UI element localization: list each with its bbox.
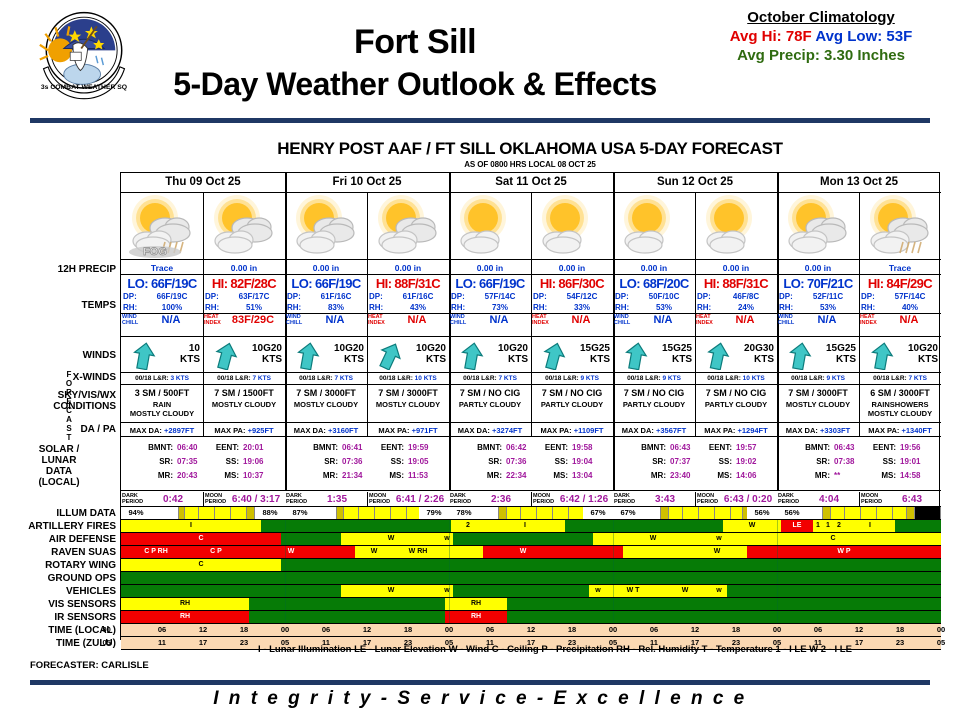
dewpoint-row: DP:46F/8C — [695, 291, 777, 302]
op-segment[interactable]: I — [121, 520, 261, 532]
op-segment[interactable] — [623, 546, 687, 558]
illum-period-label: MOONPERIOD — [533, 493, 555, 505]
xwind-cell: 00/18 L&R: 9 KTS — [777, 373, 859, 384]
illum-period-value: 2:36 — [473, 492, 529, 507]
op-segment[interactable]: W — [659, 585, 711, 597]
feels-like-row: HEATINDEXN/A — [859, 313, 941, 326]
xwind-value: 9 KTS — [826, 375, 844, 382]
op-segment[interactable] — [563, 546, 623, 558]
day-tick — [285, 546, 286, 558]
solar-pair-sr-ss: SR:07:35SS:19:06 — [121, 455, 285, 469]
day-tick — [777, 585, 778, 597]
time-tick: 12 — [183, 624, 224, 636]
dapa-cell: MAX DA: +3160FT — [285, 424, 367, 437]
feels-like-row: WINDCHILLN/A — [285, 313, 367, 326]
solar-key: BMNT: — [304, 441, 338, 455]
illum-segment — [915, 507, 941, 519]
xwind-cell: 00/18 L&R: 3 KTS — [121, 373, 203, 384]
temps-cell: LO: 66F/19CDP:66F/19CRH:100%WINDCHILLN/A — [121, 276, 203, 336]
row-label-solar-3: DATA — [0, 466, 118, 477]
dapa-value: +2897FT — [164, 426, 194, 435]
op-segment[interactable] — [249, 598, 445, 610]
time-tick: 18 — [224, 624, 265, 636]
solar-value: 20:01 — [243, 441, 263, 455]
feels-like-value: N/A — [551, 314, 611, 326]
solar-key: MR: — [632, 469, 666, 483]
solar-value: 19:06 — [243, 455, 263, 469]
illum-period-cell: MOONPERIOD6:40 / 3:17 — [203, 492, 285, 507]
precip-value: Trace — [121, 261, 203, 275]
time-tick: 18 — [716, 624, 757, 636]
dapa-cell: MAX DA: +2897FT — [121, 424, 203, 437]
op-segment[interactable] — [281, 533, 341, 545]
op-segment[interactable]: W — [593, 533, 713, 545]
day-tick — [449, 598, 450, 610]
dapa-cell: MAX PA: +1109FT — [531, 424, 613, 437]
feels-like-value: 83F/29C — [223, 314, 283, 326]
solar-pair-bmnt-eent: BMNT:06:43EENT:19:57 — [614, 441, 777, 455]
humidity-row: RH:73% — [449, 302, 531, 313]
op-segment[interactable]: 2 — [833, 520, 845, 532]
op-segment[interactable] — [507, 611, 941, 623]
visibility-ceiling: 7 SM / 3000FT — [285, 386, 367, 400]
illum-period-value: 1:35 — [309, 492, 365, 507]
illum-period-label: DARKPERIOD — [286, 493, 308, 505]
op-segment[interactable]: C P — [191, 546, 241, 558]
solar-value: 19:59 — [408, 441, 428, 455]
weather-icon-cell — [613, 194, 695, 258]
dapa-value: +3160FT — [328, 426, 358, 435]
row-label-rotary: ROTARY WING — [45, 560, 116, 571]
dapa-value: +971FT — [412, 426, 438, 435]
wind-cell: 15G25KTS — [531, 338, 613, 373]
illum-percent: 78% — [449, 507, 479, 519]
hi-lo-temp: LO: 66F/19C — [449, 276, 531, 291]
time-tick: 00 — [757, 624, 798, 636]
feels-like-row: WINDCHILLN/A — [449, 313, 531, 326]
dapa-cell: MAX DA: +3274FT — [449, 424, 531, 437]
feels-like-value: N/A — [141, 314, 201, 326]
dewpoint-row: DP:66F/19C — [121, 291, 203, 302]
hi-lo-temp: LO: 66F/19C — [285, 276, 367, 291]
rain-fog-cloud-sun-icon: FOG — [121, 194, 203, 258]
illum-segment — [231, 507, 247, 519]
feels-like-value: N/A — [715, 314, 775, 326]
feels-like-value: N/A — [387, 314, 447, 326]
illum-segment — [391, 507, 407, 519]
solar-pair-bmnt-eent: BMNT:06:41EENT:19:59 — [286, 441, 449, 455]
xwind-value: 7 KTS — [908, 375, 926, 382]
wind-cell: 10G20KTS — [285, 338, 367, 373]
row-label-sky-2: CONDITIONS — [53, 401, 116, 412]
illum-segment — [807, 507, 823, 519]
xwind-cell: 00/18 L&R: 10 KTS — [695, 373, 777, 384]
humidity-row: RH:83% — [285, 302, 367, 313]
solar-value: 13:04 — [572, 469, 592, 483]
day-tick — [777, 520, 778, 532]
day-tick — [613, 520, 614, 532]
feels-like-row: WINDCHILLN/A — [613, 313, 695, 326]
humidity-row: RH:33% — [531, 302, 613, 313]
solar-key: SR: — [796, 455, 830, 469]
op-segment[interactable]: W — [723, 520, 781, 532]
time-tick: 12 — [511, 624, 552, 636]
illum-segment — [375, 507, 391, 519]
wind-speed: 15G25KTS — [644, 343, 692, 365]
op-segment[interactable]: W — [355, 546, 393, 558]
op-segment[interactable]: C — [121, 533, 281, 545]
solar-key: BMNT: — [468, 441, 502, 455]
sky-cell: 7 SM / NO CIGPARTLY CLOUDY — [449, 386, 531, 423]
feels-like-label: WINDCHILL — [286, 314, 306, 326]
row-label-precip: 12H PRECIP — [58, 264, 116, 275]
illum-percent: 88% — [255, 507, 285, 519]
humidity-row: RH:53% — [777, 302, 859, 313]
hi-lo-temp: LO: 66F/19C — [121, 276, 203, 291]
wx-condition: RAIN — [121, 400, 203, 409]
wx-condition: RAINSHOWERS — [859, 400, 941, 409]
illum-segment — [643, 507, 661, 519]
humidity-row: RH:24% — [695, 302, 777, 313]
day-tick — [449, 585, 450, 597]
solar-key: SS: — [700, 455, 732, 469]
op-segment[interactable]: w — [441, 533, 453, 545]
title-primary: Fort Sill — [130, 22, 700, 62]
sky-cell: 7 SM / 3000FTMOSTLY CLOUDY — [367, 386, 449, 423]
wind-speed: 20G30KTS — [726, 343, 774, 365]
day-tick — [777, 611, 778, 623]
solar-lunar-cell: BMNT:06:41EENT:19:59SR:07:36SS:19:05MR:2… — [285, 438, 449, 490]
op-segment[interactable] — [249, 611, 445, 623]
xwind-cell: 00/18 L&R: 9 KTS — [613, 373, 695, 384]
day-tick — [613, 533, 614, 545]
op-segment[interactable] — [121, 572, 941, 584]
wind-cell: 10G20KTS — [859, 338, 941, 373]
climatology-heading: October Climatology — [690, 8, 952, 27]
op-segment[interactable]: RH — [121, 598, 249, 610]
solar-value: 19:56 — [900, 441, 920, 455]
precip-value: 0.00 in — [449, 261, 531, 275]
time-tick: 12 — [675, 624, 716, 636]
row-label-temps: TEMPS — [82, 300, 116, 311]
op-segment[interactable]: 1 — [813, 520, 823, 532]
solar-pair-sr-ss: SR:07:36SS:19:05 — [286, 455, 449, 469]
feels-like-label: HEATINDEX — [368, 314, 388, 326]
weather-icon-cell — [367, 194, 449, 258]
illum-period-label: MOONPERIOD — [697, 493, 719, 505]
solar-key: MS: — [864, 469, 896, 483]
op-segment[interactable] — [261, 520, 451, 532]
temps-cell: LO: 66F/19CDP:57F/14CRH:73%WINDCHILLN/A — [449, 276, 531, 336]
time-tick: 00 — [593, 624, 634, 636]
xwind-value: 9 KTS — [580, 375, 598, 382]
solar-value: 20:43 — [177, 469, 197, 483]
op-segment[interactable]: C P RH — [121, 546, 191, 558]
op-segment[interactable]: RH — [445, 611, 507, 623]
weather-icon-cell: FOG — [121, 194, 203, 258]
sun-behind-cloud-icon — [613, 194, 695, 258]
row-label-vis-sensors: VIS SENSORS — [48, 599, 116, 610]
op-row-air_defense: CWwWwC — [121, 533, 941, 546]
solar-pair-mr-ms: MR:22:34MS:13:04 — [450, 469, 613, 483]
illum-segment — [669, 507, 683, 519]
row-label-artillery: ARTILLERY FIRES — [28, 521, 116, 532]
row-label-xwinds: X-WINDS — [73, 372, 116, 383]
humidity-row: RH:100% — [121, 302, 203, 313]
op-segment[interactable]: C — [725, 533, 941, 545]
op-segment[interactable]: RH — [445, 598, 507, 610]
op-segment[interactable]: W — [241, 546, 341, 558]
day-header-3: Sun 12 Oct 25 — [613, 173, 777, 192]
wind-speed: 10G20KTS — [398, 343, 446, 365]
illum-segment — [661, 507, 669, 519]
solar-value: 06:43 — [670, 441, 690, 455]
illum-percent: 94% — [121, 507, 151, 519]
solar-value: 19:04 — [572, 455, 592, 469]
time-tick: 06 — [470, 624, 511, 636]
op-segment[interactable] — [727, 585, 941, 597]
feels-like-label: HEATINDEX — [532, 314, 552, 326]
solar-value: 14:06 — [736, 469, 756, 483]
precip-value: 0.00 in — [285, 261, 367, 275]
day-tick — [777, 533, 778, 545]
dapa-cell: MAX DA: +3303FT — [777, 424, 859, 437]
op-segment[interactable] — [341, 546, 355, 558]
illum-segment — [359, 507, 375, 519]
solar-pair-sr-ss: SR:07:36SS:19:04 — [450, 455, 613, 469]
xwind-value: 3 KTS — [170, 375, 188, 382]
solar-key: SR: — [304, 455, 338, 469]
svg-text:FOG: FOG — [143, 246, 167, 258]
visibility-ceiling: 7 SM / NO CIG — [613, 386, 695, 400]
illum-period-value: 0:42 — [145, 492, 201, 507]
illum-period-label: DARKPERIOD — [450, 493, 472, 505]
climatology-block: October Climatology Avg Hi: 78F Avg Low:… — [690, 8, 952, 65]
feels-like-row: HEATINDEXN/A — [367, 313, 449, 326]
illum-period-cell: DARKPERIOD4:04 — [777, 492, 859, 507]
weather-icon-cell — [777, 194, 859, 258]
day-tick — [285, 520, 286, 532]
op-row-rotary: C — [121, 559, 941, 572]
day-tick — [449, 520, 450, 532]
day-tick — [777, 546, 778, 558]
row-label-solar-2: LUNAR — [0, 455, 118, 466]
illum-period-cell: DARKPERIOD2:36 — [449, 492, 531, 507]
hi-lo-temp: LO: 70F/21C — [777, 276, 859, 291]
illum-segment — [521, 507, 537, 519]
feels-like-label: WINDCHILL — [450, 314, 470, 326]
time-tick: 00 — [921, 624, 960, 636]
forecast-grid: Thu 09 Oct 25FOGTraceLO: 66F/19CDP:66F/1… — [120, 172, 940, 640]
illum-period-cell: MOONPERIOD6:43 — [859, 492, 941, 507]
solar-pair-mr-ms: MR:21:34MS:11:53 — [286, 469, 449, 483]
row-label-dapa: DA / PA — [80, 424, 116, 435]
op-segment[interactable] — [453, 533, 593, 545]
sky-cell: 7 SM / 3000FTMOSTLY CLOUDY — [285, 386, 367, 423]
time-local-row: 0006121800061218000612180006121800061218… — [121, 624, 941, 637]
slide-header: 3s COMBAT WEATHER SQ Fort Sill 5-Day Wea… — [0, 0, 960, 122]
wx-condition: MOSTLY CLOUDY — [121, 409, 203, 418]
op-segment[interactable]: W — [687, 546, 747, 558]
time-tick: 06 — [798, 624, 839, 636]
precip-value: 0.00 in — [367, 261, 449, 275]
precip-value: 0.00 in — [203, 261, 285, 275]
illum-segment — [337, 507, 344, 519]
op-segment[interactable]: w — [589, 585, 607, 597]
wind-cell: 10G20KTS — [449, 338, 531, 373]
visibility-ceiling: 3 SM / 500FT — [121, 386, 203, 400]
illum-percent: 67% — [583, 507, 613, 519]
op-segment[interactable]: I — [845, 520, 895, 532]
squadron-emblem-icon: 3s COMBAT WEATHER SQ — [38, 8, 130, 100]
feels-like-value: N/A — [633, 314, 693, 326]
op-segment[interactable]: C — [121, 559, 281, 571]
illum-period-value: 6:41 / 2:26 — [392, 492, 448, 507]
day-tick — [449, 546, 450, 558]
illum-percent: 56% — [777, 507, 807, 519]
dewpoint-row: DP:57F/14C — [859, 291, 941, 302]
sun-behind-cloud-icon — [695, 194, 777, 258]
illum-segment — [861, 507, 877, 519]
dewpoint-row: DP:61F/16C — [285, 291, 367, 302]
dapa-value: +925FT — [248, 426, 274, 435]
wind-cell: 15G25KTS — [777, 338, 859, 373]
solar-pair-mr-ms: MR:**MS:14:58 — [778, 469, 941, 483]
op-segment[interactable]: W — [341, 533, 441, 545]
illum-segment — [877, 507, 893, 519]
wind-cell: 10G20KTS — [367, 338, 449, 373]
visibility-ceiling: 7 SM / 3000FT — [777, 386, 859, 400]
solar-value: 07:38 — [834, 455, 854, 469]
illum-period-label: DARKPERIOD — [778, 493, 800, 505]
sun-behind-clouds-icon — [203, 194, 285, 258]
xwind-value: 7 KTS — [334, 375, 352, 382]
op-segment[interactable]: I — [485, 520, 565, 532]
solar-value: 06:43 — [834, 441, 854, 455]
row-label-vehicles: VEHICLES — [66, 586, 116, 597]
sky-cell: 7 SM / 1500FTMOSTLY CLOUDY — [203, 386, 285, 423]
visibility-ceiling: 7 SM / NO CIG — [531, 386, 613, 400]
rain-cloud-sun-icon — [859, 194, 941, 258]
solar-value: ** — [834, 469, 840, 483]
op-row-artillery: I2IWLE112I — [121, 520, 941, 533]
solar-key: SS: — [864, 455, 896, 469]
xwind-cell: 00/18 L&R: 7 KTS — [859, 373, 941, 384]
day-header-4: Mon 13 Oct 25 — [777, 173, 941, 192]
solar-key: EENT: — [700, 441, 732, 455]
hi-lo-temp: HI: 88F/31C — [695, 276, 777, 291]
day-tick — [285, 585, 286, 597]
op-segment[interactable]: LE — [781, 520, 813, 532]
wind-cell: 10KTS — [121, 338, 203, 373]
feels-like-label: WINDCHILL — [614, 314, 634, 326]
op-segment[interactable]: RH — [121, 611, 249, 623]
solar-value: 10:37 — [243, 469, 263, 483]
day-tick — [449, 572, 450, 584]
xwind-value: 10 KTS — [743, 375, 765, 382]
precip-value: 0.00 in — [613, 261, 695, 275]
op-segment[interactable]: 1 — [823, 520, 833, 532]
solar-value: 19:58 — [572, 441, 592, 455]
solar-key: MR: — [139, 469, 173, 483]
solar-key: BMNT: — [632, 441, 666, 455]
dapa-value: +3274FT — [492, 426, 522, 435]
row-label-sky-1: SKY/VIS/WX — [58, 390, 116, 401]
row-label-raven: RAVEN SUAS — [51, 547, 116, 558]
wx-condition: MOSTLY CLOUDY — [203, 400, 285, 409]
illum-period-label: MOONPERIOD — [369, 493, 391, 505]
op-segment[interactable]: W T — [607, 585, 659, 597]
illum-period-label: DARKPERIOD — [614, 493, 636, 505]
time-tick: 00 — [101, 624, 142, 636]
visibility-ceiling: 7 SM / 3000FT — [367, 386, 449, 400]
time-tick: 18 — [552, 624, 593, 636]
op-segment[interactable] — [565, 520, 723, 532]
op-segment[interactable] — [453, 585, 589, 597]
solar-pair-sr-ss: SR:07:37SS:19:02 — [614, 455, 777, 469]
day-header-2: Sat 11 Oct 25 — [449, 173, 613, 192]
day-tick — [449, 611, 450, 623]
solar-key: BMNT: — [796, 441, 830, 455]
op-segment[interactable] — [121, 585, 341, 597]
op-segment[interactable]: 2 — [451, 520, 485, 532]
solar-key: EENT: — [864, 441, 896, 455]
feels-like-label: WINDCHILL — [122, 314, 142, 326]
dapa-cell: MAX DA: +3567FT — [613, 424, 695, 437]
sun-behind-cloud-icon — [449, 194, 531, 258]
weather-icon-cell — [449, 194, 531, 258]
day-tick — [777, 572, 778, 584]
solar-key: SR: — [632, 455, 666, 469]
forecaster-name: FORECASTER: CARLISLE — [30, 660, 149, 671]
time-tick: 06 — [142, 624, 183, 636]
solar-value: 19:01 — [900, 455, 920, 469]
day-tick — [285, 611, 286, 623]
op-segment[interactable]: W — [341, 585, 441, 597]
op-segment[interactable]: W — [483, 546, 563, 558]
solar-pair-bmnt-eent: BMNT:06:43EENT:19:56 — [778, 441, 941, 455]
day-tick — [613, 546, 614, 558]
illum-segment — [907, 507, 915, 519]
day-tick — [285, 533, 286, 545]
op-segment[interactable] — [507, 598, 941, 610]
illum-period-cell: MOONPERIOD6:43 / 0:20 — [695, 492, 777, 507]
solar-key: SS: — [536, 455, 568, 469]
solar-key: EENT: — [207, 441, 239, 455]
humidity-row: RH:53% — [613, 302, 695, 313]
row-label-column: FORECAST 12H PRECIP TEMPS WINDS X-WINDS … — [0, 172, 120, 640]
wind-speed: 15G25KTS — [808, 343, 856, 365]
feels-like-value: N/A — [879, 314, 939, 326]
solar-pair-bmnt-eent: BMNT:06:42EENT:19:58 — [450, 441, 613, 455]
feels-like-row: WINDCHILLN/A — [121, 313, 203, 326]
legend-text: I - Lunar Illumination LE - Lunar Elevat… — [170, 644, 940, 655]
op-segment[interactable]: w — [711, 585, 727, 597]
feels-like-row: HEATINDEXN/A — [531, 313, 613, 326]
visibility-ceiling: 6 SM / 3000FT — [859, 386, 941, 400]
feels-like-row: HEATINDEX83F/29C — [203, 313, 285, 326]
solar-pair-bmnt-eent: BMNT:06:40EENT:20:01 — [121, 441, 285, 455]
op-segment[interactable]: w — [713, 533, 725, 545]
temps-cell: LO: 68F/20CDP:50F/10CRH:53%WINDCHILLN/A — [613, 276, 695, 336]
solar-key: MS: — [700, 469, 732, 483]
op-segment[interactable] — [281, 559, 941, 571]
row-label-ir-sensors: IR SENSORS — [54, 612, 116, 623]
temps-cell: HI: 84F/29CDP:57F/14CRH:40%HEATINDEXN/A — [859, 276, 941, 336]
avg-high-value: Avg Hi: 78F — [730, 28, 812, 45]
op-segment[interactable]: W RH — [393, 546, 443, 558]
op-segment[interactable]: w — [441, 585, 453, 597]
